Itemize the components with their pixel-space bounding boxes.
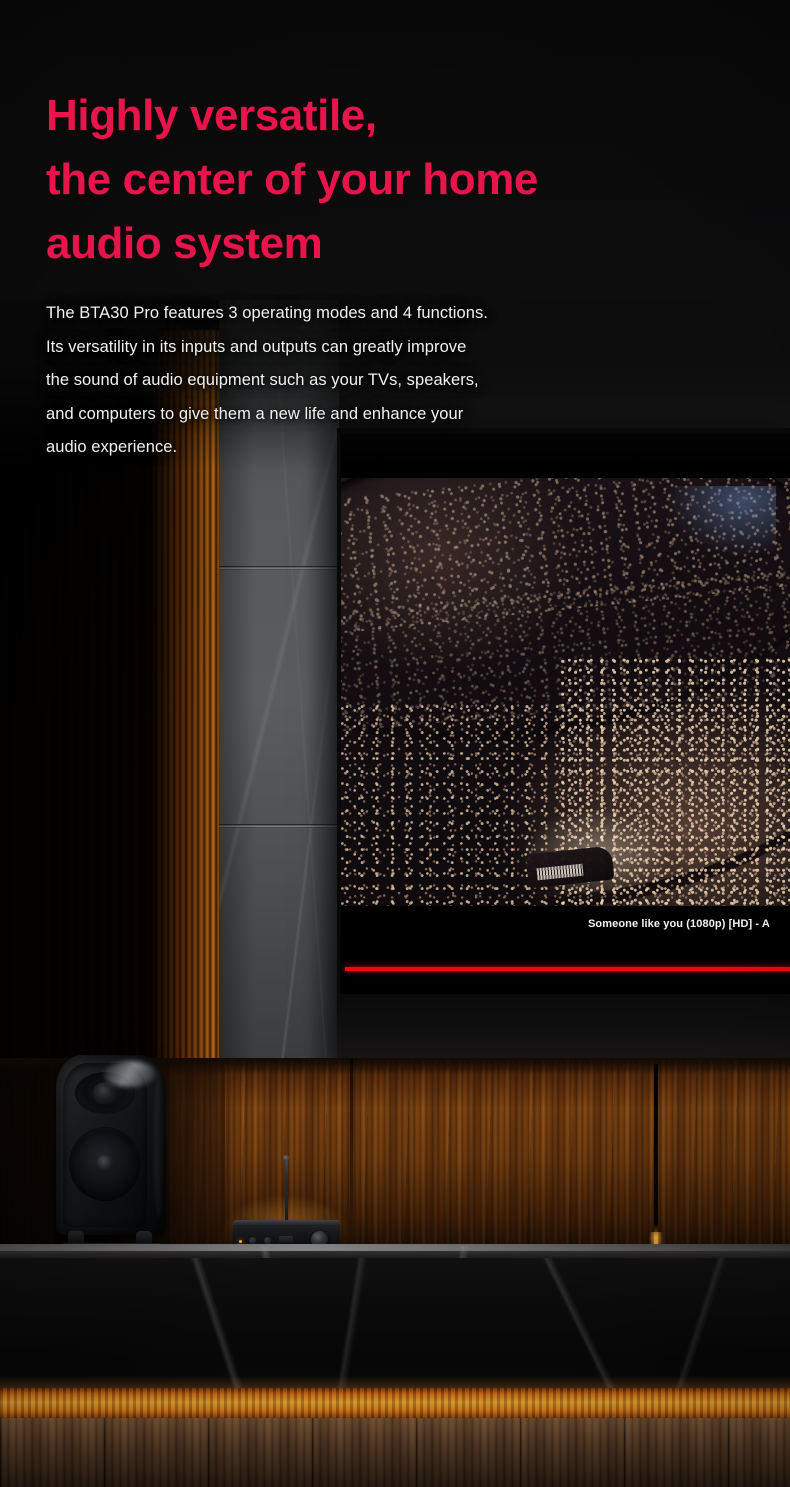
speaker-top-highlight bbox=[104, 1061, 156, 1087]
body-line: and computers to give them a new life an… bbox=[46, 398, 736, 431]
device-status-led bbox=[239, 1240, 242, 1243]
cabinet-vertical-seam bbox=[654, 1064, 658, 1250]
tv-screen: Someone like you (1080p) [HD] - A bbox=[341, 434, 790, 994]
body-line: Its versatility in its inputs and output… bbox=[46, 331, 736, 364]
video-progress-fill bbox=[345, 967, 790, 971]
video-progress-track[interactable] bbox=[345, 967, 790, 971]
body-line: The BTA30 Pro features 3 operating modes… bbox=[46, 297, 736, 330]
product-hero-scene: Someone like you (1080p) [HD] - A bbox=[0, 0, 790, 1487]
device-display-window bbox=[279, 1236, 293, 1244]
floor-shading bbox=[0, 1418, 790, 1487]
stage-spotlight-blue bbox=[666, 486, 776, 556]
body-paragraph: The BTA30 Pro features 3 operating modes… bbox=[46, 297, 736, 464]
console-marble-veining bbox=[0, 1258, 790, 1392]
tweeter-dome bbox=[93, 1082, 117, 1104]
marketing-copy-block: Highly versatile,the center of your home… bbox=[46, 84, 736, 465]
cabinet-panel-edge bbox=[350, 1058, 353, 1250]
body-line: audio experience. bbox=[46, 431, 736, 464]
body-line: the sound of audio equipment such as you… bbox=[46, 364, 736, 397]
tv-lower-bezel bbox=[337, 994, 790, 1060]
speaker-edge-highlight bbox=[154, 1069, 164, 1219]
headline-line: the center of your home bbox=[46, 148, 736, 212]
video-content-concert bbox=[341, 478, 790, 906]
antenna bbox=[285, 1158, 288, 1222]
led-strip-texture bbox=[0, 1388, 790, 1422]
antenna-tip bbox=[283, 1155, 289, 1161]
video-title-overlay: Someone like you (1080p) [HD] - A bbox=[588, 918, 770, 930]
page-title: Highly versatile,the center of your home… bbox=[46, 84, 736, 275]
studio-monitor-speaker bbox=[56, 1055, 166, 1235]
device-button[interactable] bbox=[264, 1237, 271, 1244]
woofer-dustcap bbox=[97, 1155, 113, 1171]
headline-line: audio system bbox=[46, 212, 736, 276]
device-top-panel bbox=[233, 1220, 340, 1226]
device-button[interactable] bbox=[249, 1237, 256, 1244]
television: Someone like you (1080p) [HD] - A bbox=[337, 428, 790, 1060]
headline-line: Highly versatile, bbox=[46, 84, 736, 148]
